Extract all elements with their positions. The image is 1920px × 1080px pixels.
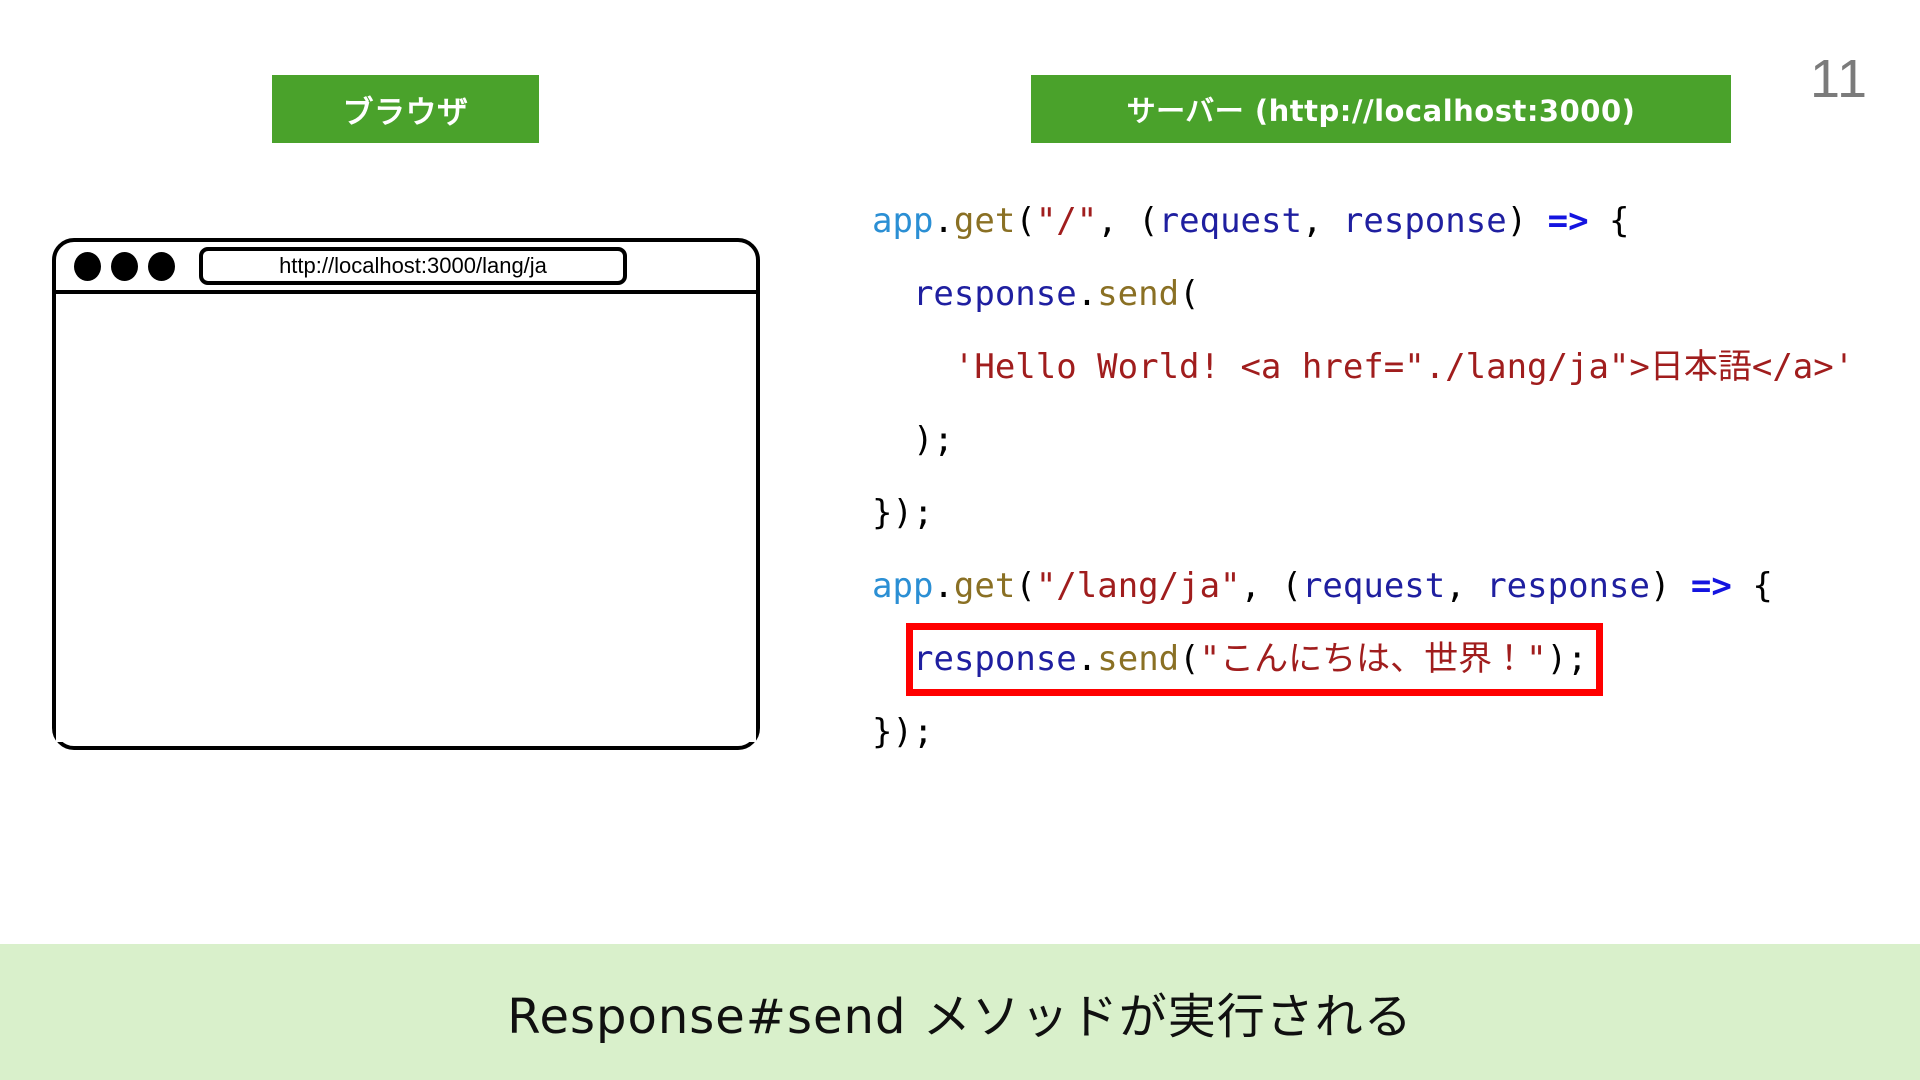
code-line: response.send( xyxy=(872,258,1882,331)
code-token-punc: . xyxy=(1077,639,1097,679)
code-token-param: response xyxy=(913,274,1077,314)
caption-text: Response#send メソッドが実行される xyxy=(507,977,1412,1047)
code-token-punc: ( xyxy=(1179,274,1199,314)
code-token-fn: get xyxy=(954,201,1015,241)
code-line: app.get("/lang/ja", (request, response) … xyxy=(872,550,1882,623)
minimize-icon[interactable] xyxy=(111,252,138,281)
code-token-punc: , xyxy=(1302,201,1343,241)
code-token-punc: , ( xyxy=(1097,201,1158,241)
code-indent xyxy=(872,420,913,460)
server-section-header-label: サーバー (http://localhost:3000) xyxy=(1127,88,1636,130)
code-token-punc: ); xyxy=(913,420,954,460)
code-indent xyxy=(872,347,954,387)
code-token-param: response xyxy=(913,639,1077,679)
browser-viewport xyxy=(56,294,756,742)
code-token-punc: ) xyxy=(1650,566,1691,606)
browser-title-bar: http://localhost:3000/lang/ja xyxy=(56,242,756,294)
code-token-punc: . xyxy=(933,566,953,606)
code-token-str: "こんにちは、世界！" xyxy=(1200,639,1547,679)
code-line: }); xyxy=(872,696,1882,769)
code-token-obj: app xyxy=(872,566,933,606)
code-token-obj: app xyxy=(872,201,933,241)
code-token-punc: { xyxy=(1732,566,1773,606)
caption-band: Response#send メソッドが実行される xyxy=(0,944,1920,1080)
code-token-punc: ( xyxy=(1015,201,1035,241)
code-token-fn: get xyxy=(954,566,1015,606)
code-token-punc: . xyxy=(1077,274,1097,314)
url-input[interactable]: http://localhost:3000/lang/ja xyxy=(199,247,627,285)
code-token-punc: ( xyxy=(1179,639,1199,679)
code-line: }); xyxy=(872,477,1882,550)
code-token-arrow: => xyxy=(1691,566,1732,606)
slide-number: 11 xyxy=(1810,52,1868,106)
browser-section-header: ブラウザ xyxy=(272,75,539,143)
code-token-arrow: => xyxy=(1548,201,1589,241)
browser-section-header-label: ブラウザ xyxy=(343,87,469,132)
maximize-icon[interactable] xyxy=(148,252,175,281)
code-token-param: request xyxy=(1159,201,1302,241)
server-section-header: サーバー (http://localhost:3000) xyxy=(1031,75,1731,143)
code-indent xyxy=(872,274,913,314)
code-token-punc: { xyxy=(1589,201,1630,241)
browser-window: http://localhost:3000/lang/ja xyxy=(52,238,760,750)
code-token-punc: ) xyxy=(1507,201,1548,241)
code-token-str: 'Hello World! <a href="./lang/ja">日本語</a… xyxy=(954,347,1854,387)
code-token-punc: , xyxy=(1445,566,1486,606)
server-code-block: app.get("/", (request, response) => { re… xyxy=(872,185,1882,769)
code-line-highlighted: response.send("こんにちは、世界！"); xyxy=(906,623,1603,696)
code-token-param: response xyxy=(1343,201,1507,241)
code-token-punc: }); xyxy=(872,493,933,533)
code-line: ); xyxy=(872,404,1882,477)
code-token-param: response xyxy=(1486,566,1650,606)
code-token-fn: send xyxy=(1097,274,1179,314)
code-token-punc: . xyxy=(933,201,953,241)
code-token-param: request xyxy=(1302,566,1445,606)
code-line: app.get("/", (request, response) => { xyxy=(872,185,1882,258)
code-token-str: "/lang/ja" xyxy=(1036,566,1241,606)
code-token-punc: ); xyxy=(1547,639,1588,679)
close-icon[interactable] xyxy=(74,252,101,281)
code-line: 'Hello World! <a href="./lang/ja">日本語</a… xyxy=(872,331,1882,404)
code-token-str: "/" xyxy=(1036,201,1097,241)
code-token-fn: send xyxy=(1097,639,1179,679)
code-token-punc: , ( xyxy=(1241,566,1302,606)
code-token-punc: ( xyxy=(1015,566,1035,606)
code-token-punc: }); xyxy=(872,712,933,752)
